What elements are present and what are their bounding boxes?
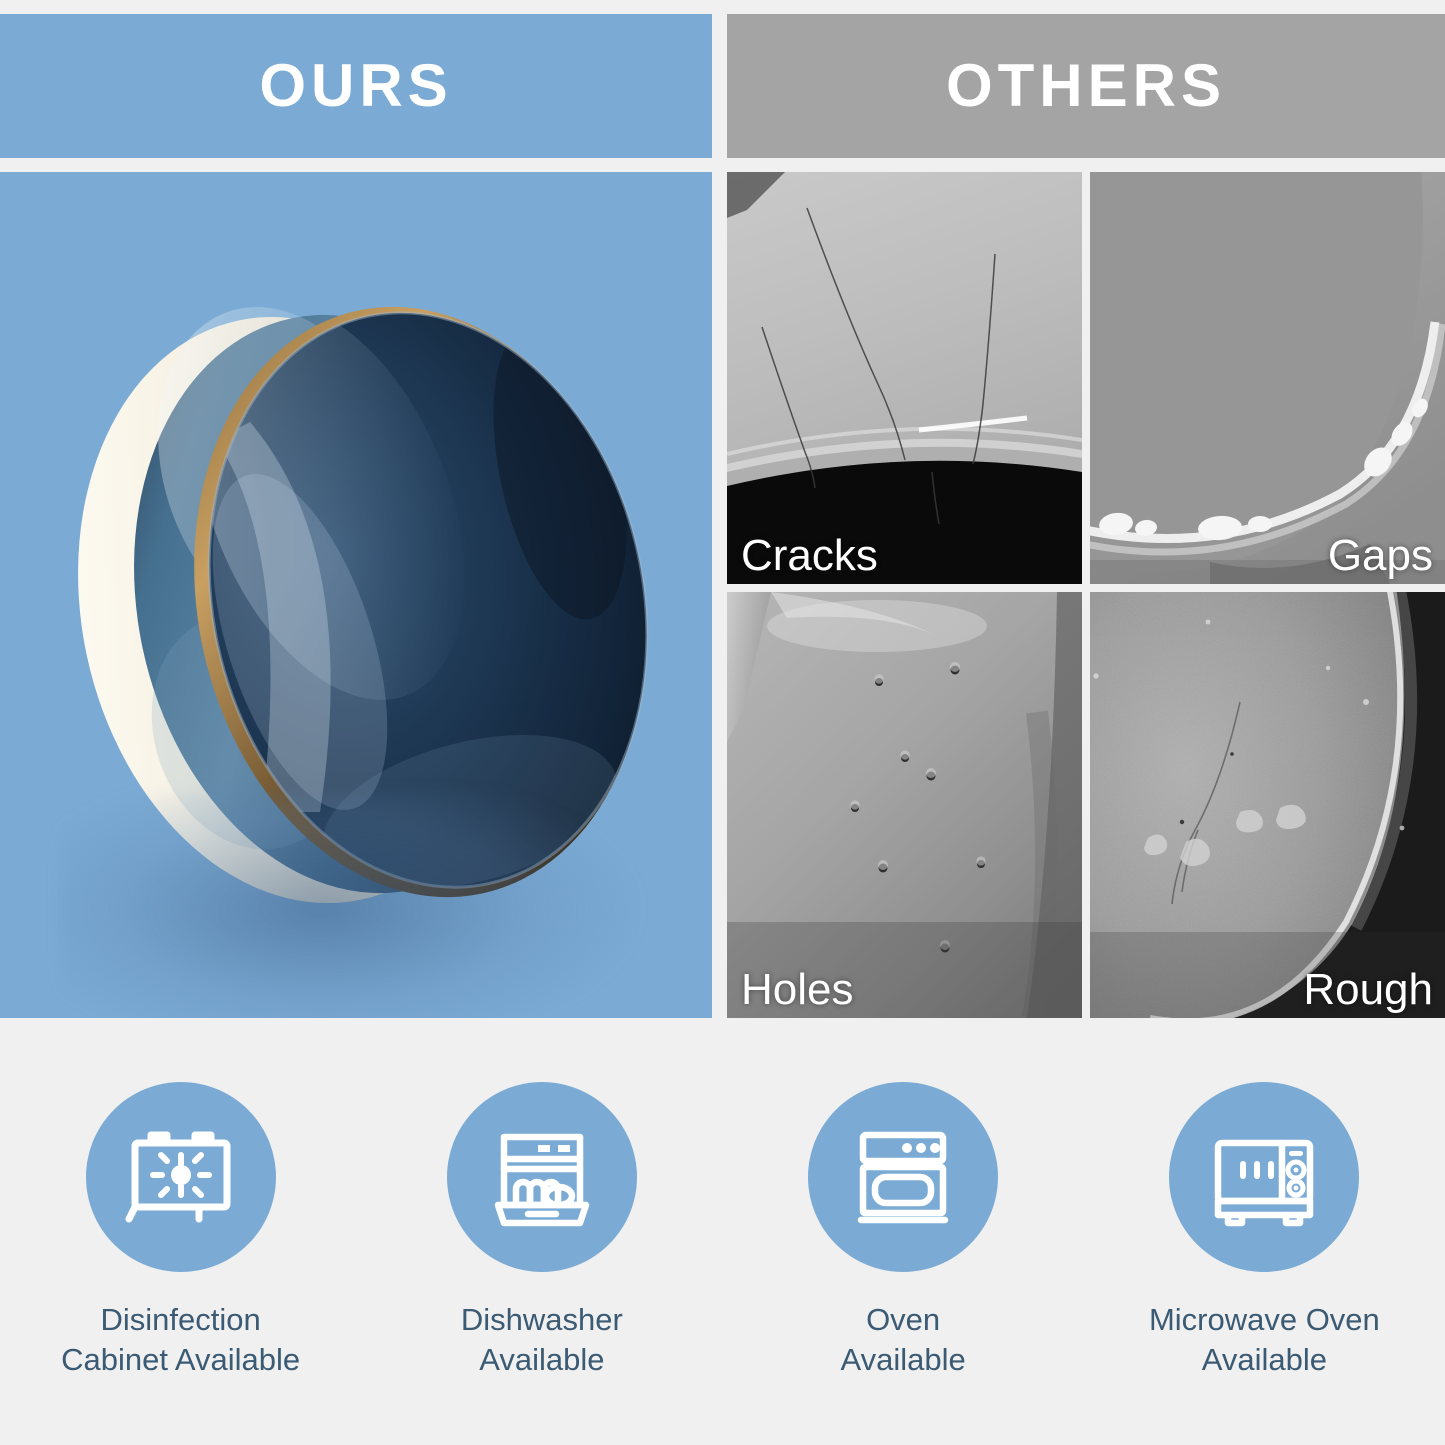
defect-tile-gaps: Gaps: [1090, 172, 1445, 584]
product-image: [0, 172, 712, 1018]
feature-caption-disinfection: Disinfection Cabinet Available: [61, 1300, 300, 1381]
defect-label-cracks: Cracks: [741, 534, 878, 578]
feature-badge-microwave: [1169, 1082, 1359, 1272]
feature-item-disinfection-cabinet[interactable]: Disinfection Cabinet Available: [0, 1060, 361, 1445]
feature-caption-oven: Oven Available: [841, 1300, 966, 1381]
ours-header: OURS: [0, 14, 712, 158]
bowl-shadow: [60, 792, 640, 1018]
feature-badge-dishwasher: [447, 1082, 637, 1272]
others-defect-grid: Cracks: [727, 172, 1445, 1018]
comparison-section: OURS OTHERS: [0, 0, 1445, 1018]
oven-icon: [843, 1117, 963, 1237]
ours-product-panel: [0, 172, 712, 1018]
feature-caption-dishwasher: Dishwasher Available: [461, 1300, 623, 1381]
defect-tile-holes: Holes: [727, 592, 1082, 1018]
disinfection-cabinet-icon: [121, 1117, 241, 1237]
defect-label-rough: Rough: [1303, 968, 1433, 1012]
defect-tile-cracks: Cracks: [727, 172, 1082, 584]
feature-badge-oven: [808, 1082, 998, 1272]
rough-photo: [1090, 592, 1445, 1018]
feature-item-oven[interactable]: Oven Available: [723, 1060, 1084, 1445]
feature-badge-disinfection: [86, 1082, 276, 1272]
defect-label-gaps: Gaps: [1328, 534, 1433, 578]
defect-tile-rough: Rough: [1090, 592, 1445, 1018]
feature-row: Disinfection Cabinet Available: [0, 1060, 1445, 1445]
ours-header-label: OURS: [259, 56, 452, 116]
others-header-label: OTHERS: [946, 56, 1226, 116]
holes-photo: [727, 592, 1082, 1018]
feature-item-microwave[interactable]: Microwave Oven Available: [1084, 1060, 1445, 1445]
defect-label-holes: Holes: [741, 968, 854, 1012]
feature-item-dishwasher[interactable]: Dishwasher Available: [361, 1060, 722, 1445]
microwave-oven-icon: [1204, 1117, 1324, 1237]
cracks-photo: [727, 172, 1082, 584]
feature-caption-microwave: Microwave Oven Available: [1149, 1300, 1380, 1381]
others-header: OTHERS: [727, 14, 1445, 158]
dishwasher-icon: [482, 1117, 602, 1237]
gaps-photo: [1090, 172, 1445, 584]
